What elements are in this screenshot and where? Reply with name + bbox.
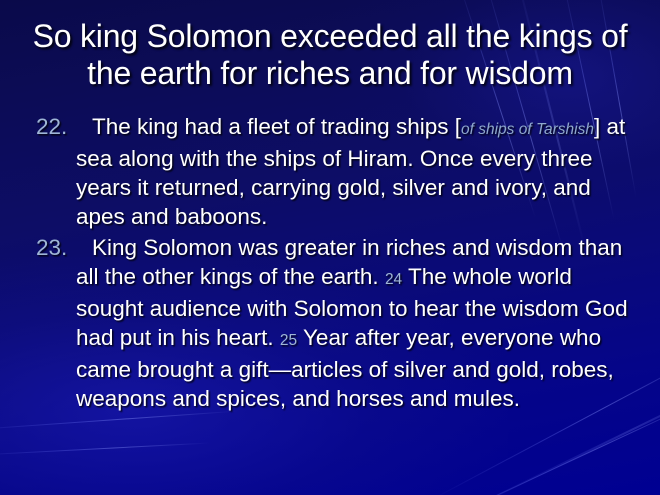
paragraph-number: 22. [36,112,67,141]
body-paragraph: 23.King Solomon was greater in riches an… [32,233,632,413]
paragraph-number: 23. [36,233,67,262]
translation-note: of ships of Tarshish [461,121,594,138]
verse-number: 24 [385,271,402,288]
body-paragraph: 22.The king had a fleet of trading ships… [32,112,632,231]
body-text: The king had a fleet of trading ships [ [92,114,461,139]
presentation-slide: So king Solomon exceeded all the kings o… [0,0,660,495]
background-streak [0,442,210,456]
slide-title: So king Solomon exceeded all the kings o… [14,18,646,92]
slide-body: 22.The king had a fleet of trading ships… [32,112,632,415]
verse-number: 25 [280,332,297,349]
